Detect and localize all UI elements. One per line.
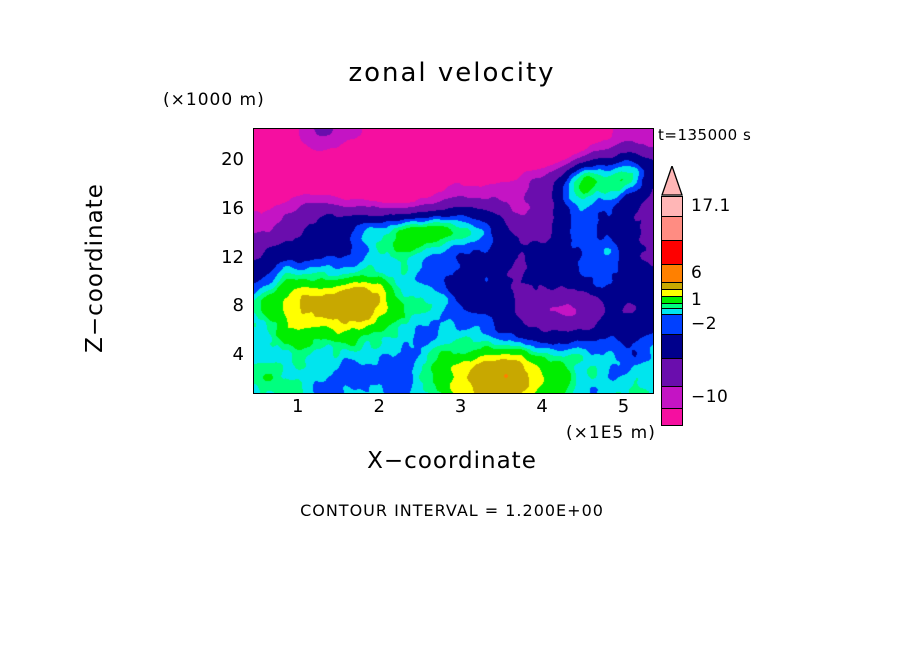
- colorbar-bands: [661, 196, 683, 426]
- colorbar-band: [662, 197, 682, 217]
- colorbar: [661, 166, 683, 378]
- x-axis-tick-label: 3: [441, 396, 481, 417]
- colorbar-band: [662, 297, 682, 304]
- colorbar-tick-label: −2: [691, 314, 717, 334]
- colorbar-band: [662, 335, 682, 359]
- colorbar-band: [662, 387, 682, 409]
- colorbar-band: [662, 241, 682, 265]
- contour-field-canvas: [254, 129, 653, 393]
- y-axis-tick-label: 20: [208, 149, 244, 170]
- y-axis-title: Z−coordinate: [82, 118, 108, 418]
- colorbar-band: [662, 283, 682, 290]
- contour-plot-area: [253, 128, 654, 394]
- x-axis-tick-label: 4: [522, 396, 562, 417]
- colorbar-band: [662, 315, 682, 335]
- colorbar-tick-label: −10: [691, 387, 728, 407]
- x-axis-tick-label: 5: [604, 396, 644, 417]
- colorbar-band: [662, 359, 682, 387]
- colorbar-band: [662, 217, 682, 241]
- colorbar-tick-label: 1: [691, 290, 702, 310]
- x-axis-title: X−coordinate: [0, 448, 904, 474]
- contour-interval-label: CONTOUR INTERVAL = 1.200E+00: [0, 501, 904, 520]
- colorbar-band: [662, 409, 682, 425]
- x-axis-tick-label: 1: [278, 396, 318, 417]
- y-axis-units-label: (×1000 m): [163, 90, 265, 110]
- page-title: zonal velocity: [0, 58, 904, 88]
- x-axis-units-label: (×1E5 m): [566, 423, 656, 443]
- y-axis-tick-label: 4: [208, 344, 244, 365]
- colorbar-band: [662, 290, 682, 297]
- colorbar-band: [662, 265, 682, 283]
- colorbar-tick-label: 6: [691, 263, 702, 283]
- timestamp-label: t=135000 s: [658, 126, 751, 144]
- colorbar-tick-label: 17.1: [691, 196, 731, 216]
- y-axis-tick-label: 16: [208, 198, 244, 219]
- x-axis-tick-label: 2: [359, 396, 399, 417]
- colorbar-arrow-icon: [661, 166, 683, 196]
- y-axis-tick-label: 8: [208, 295, 244, 316]
- y-axis-tick-label: 12: [208, 247, 244, 268]
